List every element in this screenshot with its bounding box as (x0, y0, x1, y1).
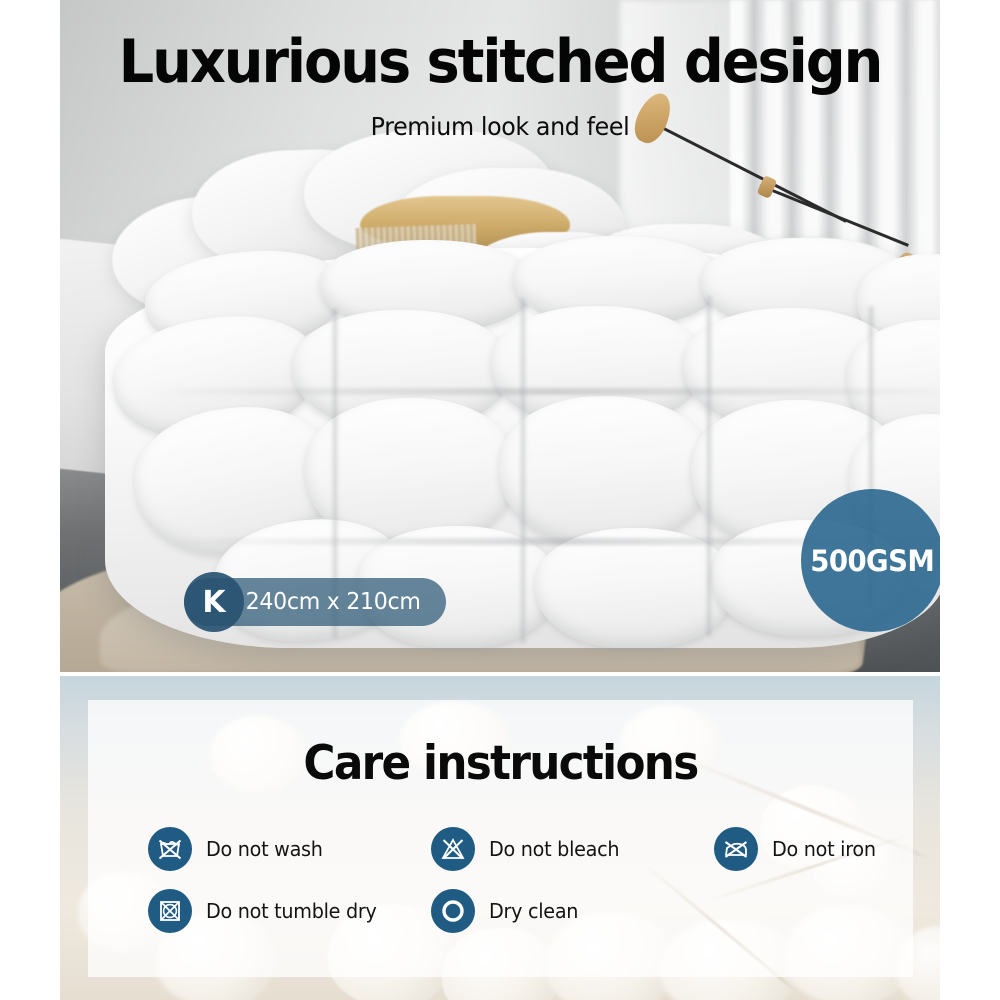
size-letter-label: K (202, 585, 225, 620)
care-item-do-not-bleach: Do not bleach (431, 827, 714, 871)
care-row: Do not wash Do not bleach (88, 818, 913, 880)
care-instructions-section: Care instructions Do not (60, 676, 940, 1000)
page-subtitle: Premium look and feel (25, 112, 975, 141)
product-infographic: 500GSM 240cm x 210cm K Luxurious stitche… (0, 0, 1000, 1000)
duvet-seam (705, 296, 713, 636)
do-not-iron-icon (714, 827, 758, 871)
do-not-wash-icon (148, 827, 192, 871)
care-panel: Care instructions Do not (88, 700, 913, 977)
care-item-do-not-wash: Do not wash (148, 827, 431, 871)
size-letter-badge: K (184, 572, 244, 632)
care-row: Do not tumble dry Dry clean (88, 880, 913, 942)
care-item-do-not-iron: Do not iron (714, 827, 913, 871)
dry-clean-icon (431, 889, 475, 933)
duvet-seam (519, 298, 527, 643)
care-item-label: Do not iron (772, 837, 876, 861)
duvet-baffle (499, 396, 711, 546)
care-item-label: Do not tumble dry (206, 899, 377, 923)
care-item-label: Dry clean (489, 899, 578, 923)
size-dimensions-label: 240cm x 210cm (246, 589, 421, 615)
gsm-badge-label: 500GSM (811, 544, 935, 578)
care-item-label: Do not bleach (489, 837, 619, 861)
care-items-grid: Do not wash Do not bleach (88, 818, 913, 942)
care-title: Care instructions (117, 736, 884, 791)
do-not-tumble-dry-icon (148, 889, 192, 933)
do-not-bleach-icon (431, 827, 475, 871)
care-item-do-not-tumble-dry: Do not tumble dry (148, 889, 431, 933)
hero-product-photo: 500GSM 240cm x 210cm K (60, 0, 940, 672)
duvet-seam (145, 388, 940, 395)
care-item-label: Do not wash (206, 837, 323, 861)
gsm-badge: 500GSM (801, 489, 940, 632)
page-title: Luxurious stitched design (35, 30, 965, 95)
care-item-dry-clean: Dry clean (431, 889, 714, 933)
